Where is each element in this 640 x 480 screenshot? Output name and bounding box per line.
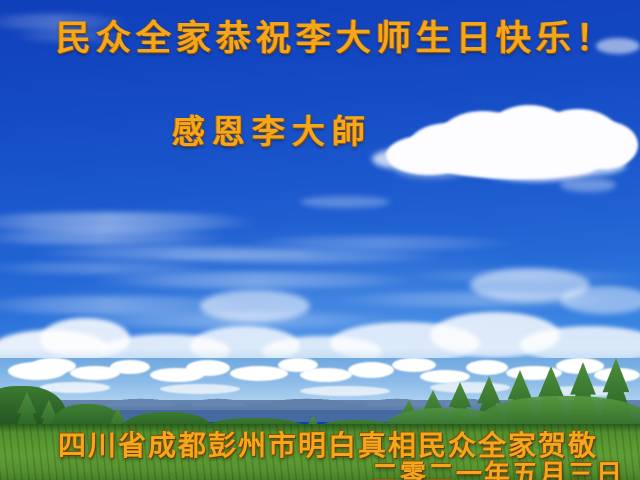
headline-text: 民众全家恭祝李大师生日快乐！ xyxy=(56,22,616,57)
date-text: 二零二一年五月三日 xyxy=(372,462,624,480)
cumulus-cloud xyxy=(200,290,310,322)
cloud-wisp xyxy=(90,272,420,288)
cloud-wisp xyxy=(240,236,520,250)
cumulus-cloud xyxy=(560,286,640,314)
greeting-card: 民众全家恭祝李大师生日快乐！ 感恩李大師 四川省成都彭州市明白真相民众全家贺敬 … xyxy=(0,0,640,480)
cumulus-cloud xyxy=(300,196,390,208)
signature-text: 四川省成都彭州市明白真相民众全家贺敬 xyxy=(58,432,598,460)
cloud-wisp xyxy=(150,250,450,263)
cloud-wisp xyxy=(0,230,230,245)
subheadline-text: 感恩李大師 xyxy=(172,115,372,148)
cloud-wisp xyxy=(0,212,260,232)
large-cumulus-cloud xyxy=(386,105,636,183)
